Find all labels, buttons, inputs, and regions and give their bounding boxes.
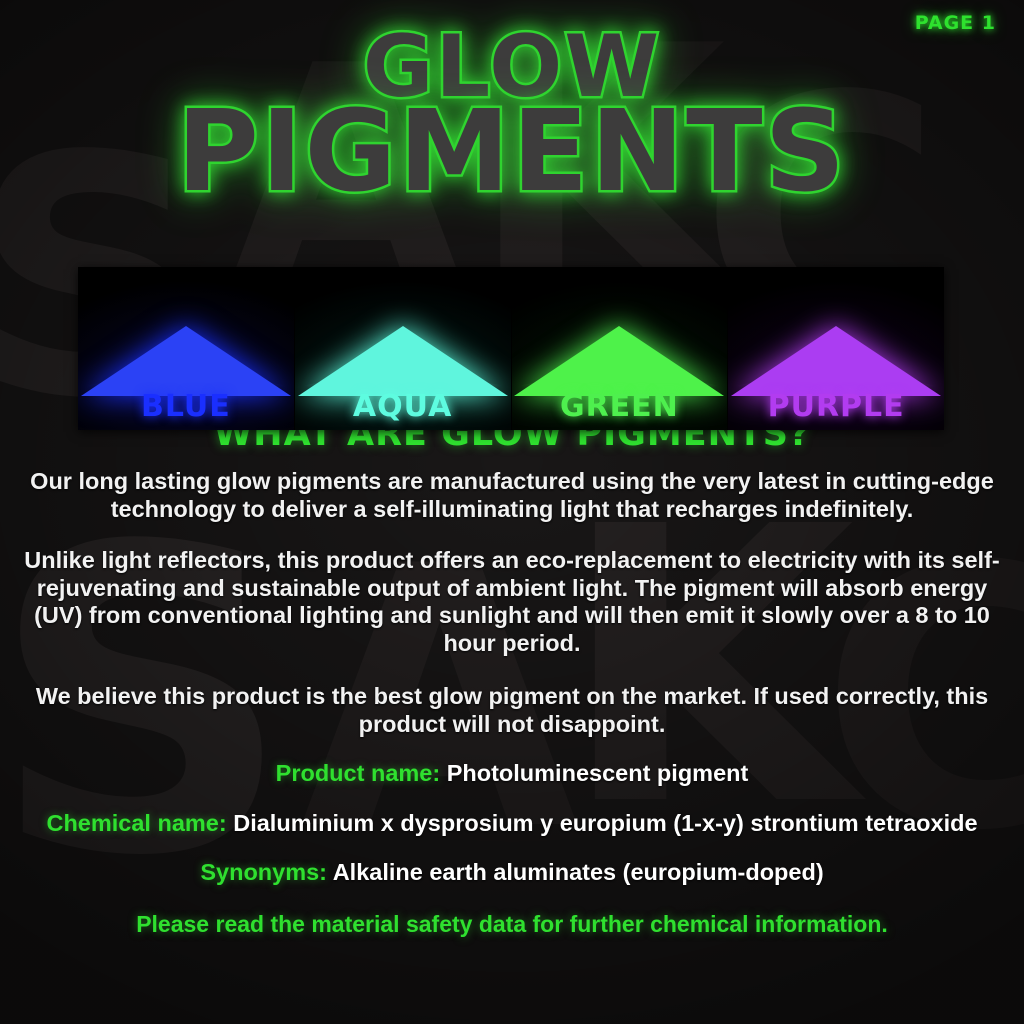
color-swatch-purple: PURPLE [727,267,944,430]
powder-pile [731,326,941,396]
safety-data-note: Please read the material safety data for… [16,911,1008,938]
spec-row-chemical-name: Chemical name: Dialuminium x dysprosium … [16,810,1008,838]
hero-title-line-2: PIGMENTS [0,101,1024,204]
swatch-label: BLUE [78,389,294,424]
body-copy: Our long lasting glow pigments are manuf… [0,468,1024,938]
spec-value: Dialuminium x dysprosium y europium (1-x… [233,810,977,836]
paragraph-intro: Our long lasting glow pigments are manuf… [16,468,1008,523]
spec-label: Synonyms: [200,859,327,885]
color-swatch-green: GREEN [511,267,728,430]
color-swatch-aqua: AQUA [294,267,511,430]
paragraph-claim: We believe this product is the best glow… [16,683,1008,738]
spec-row-product-name: Product name: Photoluminescent pigment [16,760,1008,788]
powder-pile [298,326,508,396]
spec-value: Alkaline earth aluminates (europium-dope… [333,859,824,885]
color-swatch-strip: BLUEAQUAGREENPURPLE [78,267,944,430]
color-swatch-blue: BLUE [78,267,294,430]
powder-pile [514,326,724,396]
swatch-label: GREEN [512,389,728,424]
powder-pile [81,326,291,396]
paragraph-details: Unlike light reflectors, this product of… [16,547,1008,657]
swatch-label: AQUA [295,389,511,424]
poster-page: PAGE 1 GLOW PIGMENTS BLUEAQUAGREENPURPLE… [0,0,1024,1024]
hero-title: GLOW PIGMENTS [0,0,1024,204]
spec-row-synonyms: Synonyms: Alkaline earth aluminates (eur… [16,859,1008,887]
spec-value: Photoluminescent pigment [447,760,749,786]
swatch-label: PURPLE [728,389,944,424]
spec-label: Product name: [276,760,441,786]
spec-label: Chemical name: [46,810,226,836]
